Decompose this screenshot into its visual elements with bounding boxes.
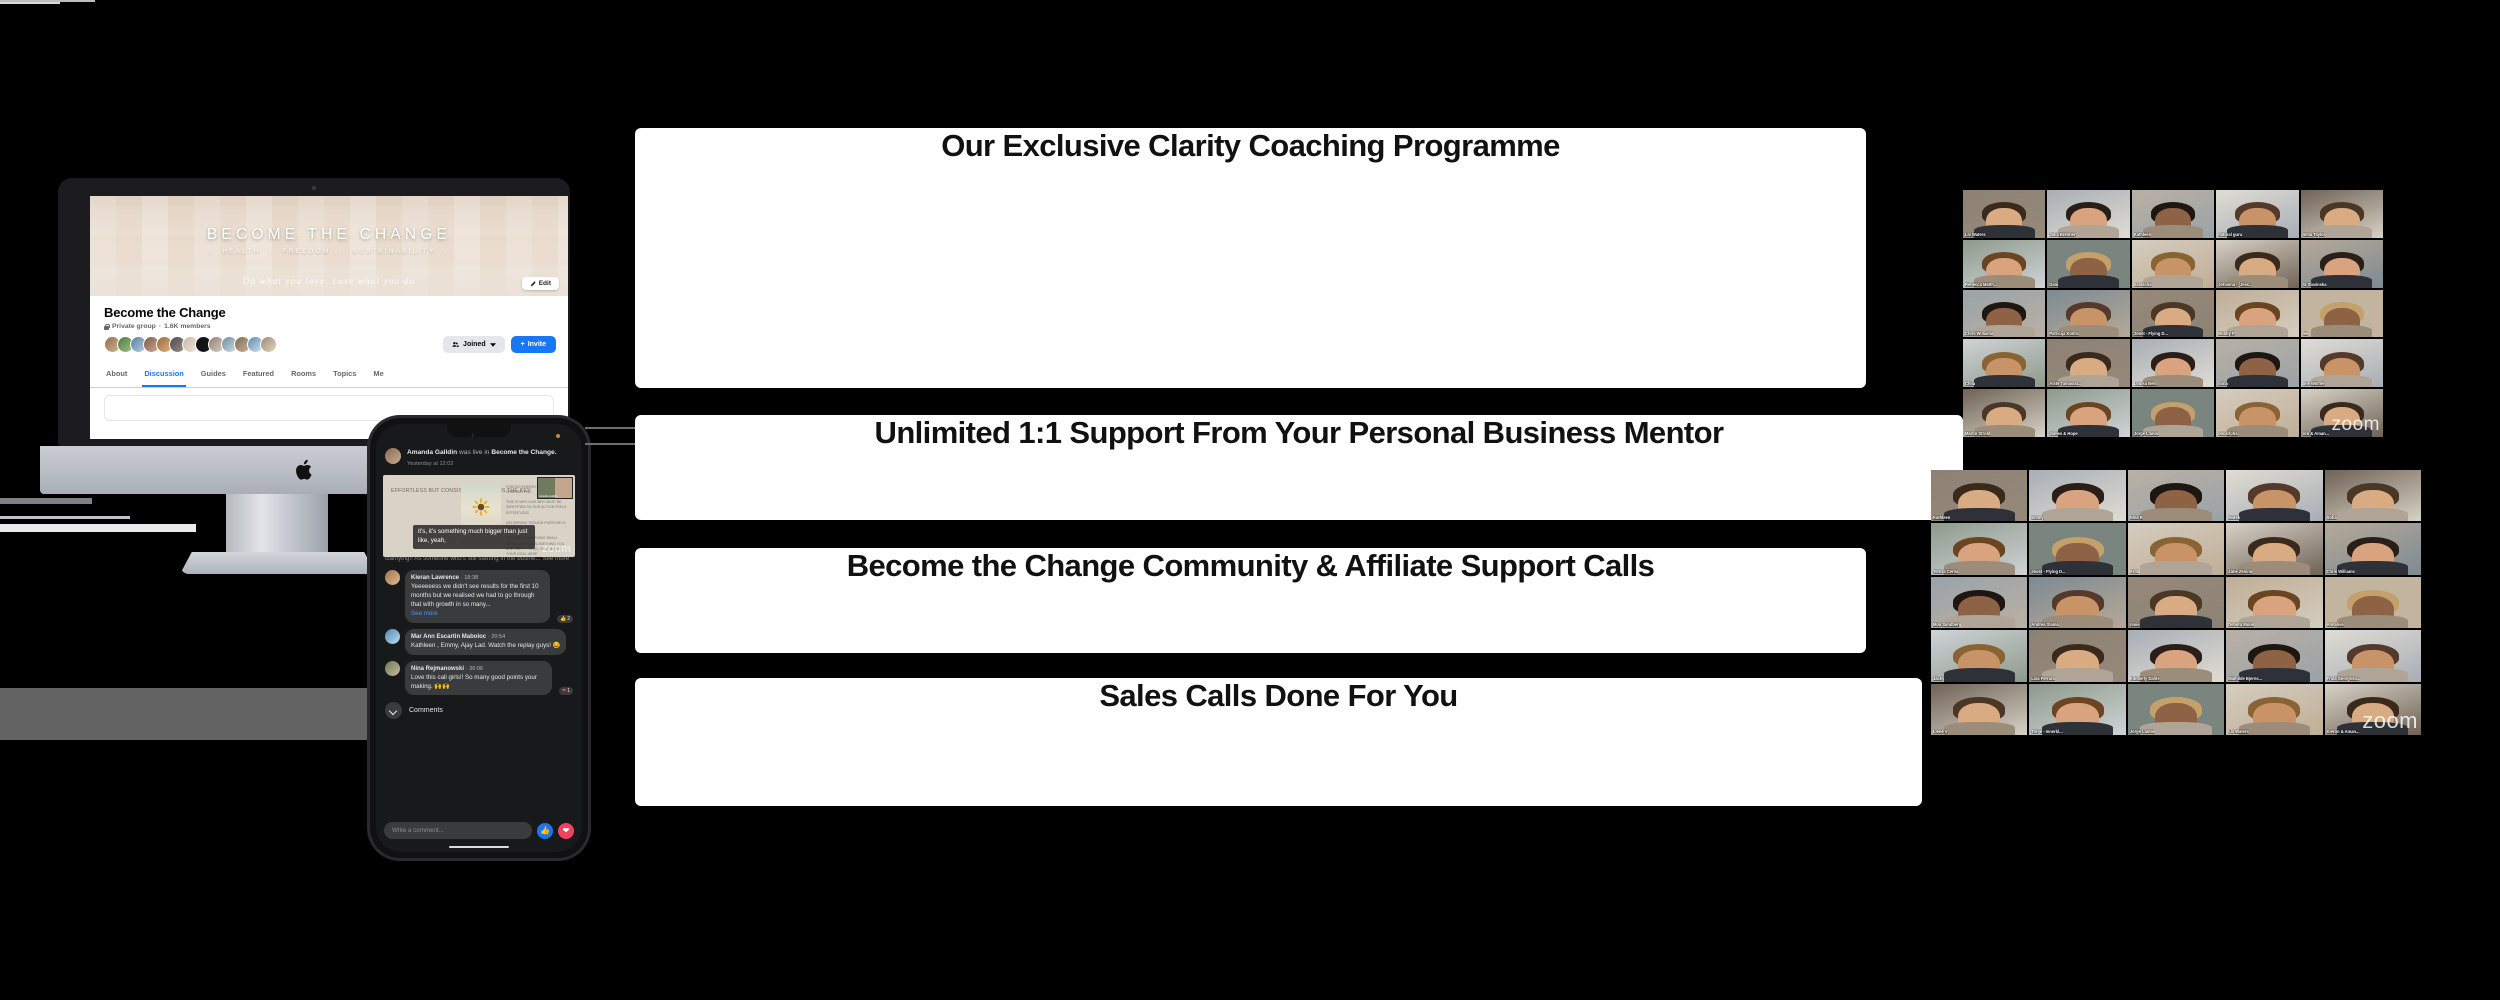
video-pip-tile: Amanda Galldin — [537, 477, 573, 499]
participant-body — [2227, 325, 2288, 337]
comments-label: Comments — [409, 707, 443, 714]
zoom-participant-tile[interactable]: Chris Williams — [1963, 290, 2045, 338]
zoom-participant-name: ra Slavinska — [2303, 282, 2327, 287]
zoom-participant-name: Dani — [2049, 282, 2058, 287]
zoom-participant-name: Joost - Flying D... — [2134, 331, 2168, 336]
group-action-buttons: Joined + Invite — [443, 336, 556, 353]
zoom-participant-name: mma Taylor — [2303, 232, 2326, 237]
zoom-participant-name: ilaria — [2218, 381, 2228, 386]
zoom-participant-tile[interactable]: Chris Williams — [2325, 523, 2421, 574]
zoom-participant-name: Moa Sandberg — [1933, 622, 1961, 627]
decor-gray-bar — [0, 688, 376, 740]
zoom-participant-tile[interactable]: Jacky — [1931, 630, 2027, 681]
group-cover-photo: BECOME THE CHANGE |HEALTH|FREEDOM|SUSTAI… — [90, 196, 568, 296]
zoom-participant-tile[interactable]: Rebecca Matth... — [1963, 240, 2045, 288]
zoom-participant-name: Tereza Cerna — [1933, 569, 1958, 574]
comment-time-value: 20:54 — [491, 634, 505, 640]
zoom-watermark: zoom — [542, 543, 571, 555]
zoom-participant-tile[interactable]: Martin Strobl — [1963, 389, 2045, 437]
participant-body — [2058, 275, 2119, 287]
tab-topics[interactable]: Topics — [331, 363, 358, 387]
invite-button[interactable]: + Invite — [511, 336, 556, 353]
zoom-participant-tile[interactable]: Mathilde Bjerns... — [2226, 630, 2322, 681]
comment-bubble: Kieran Lawrence · 18:38 Yeeeeeess we did… — [405, 570, 550, 623]
zoom-participant-name: Patricija Kodric — [2049, 331, 2079, 336]
zoom-participant-name: Jorge Llanos — [2130, 729, 2155, 734]
imac-camera-icon — [312, 186, 316, 190]
reaction-count-value: 2 — [567, 616, 570, 622]
participant-body — [2337, 615, 2408, 628]
zoom-participant-tile[interactable]: Kathleen — [1931, 470, 2027, 521]
zoom-participant-name: Jorge Llanos — [2134, 431, 2159, 436]
zoom-participant-tile[interactable]: Tonje - Innerbl... — [2029, 684, 2125, 735]
pencil-icon — [530, 281, 536, 287]
participant-body — [1974, 375, 2035, 387]
live-caption: it's, it's something much bigger than ju… — [413, 525, 535, 549]
post-author-name[interactable]: Amanda Galldin — [407, 449, 457, 456]
feature-card-title: Unlimited 1:1 Support From Your Personal… — [635, 415, 1963, 451]
sunflower-icon — [472, 498, 490, 516]
comment-text: Love this call girls!! So many good poin… — [411, 674, 546, 692]
zoom-participant-tile[interactable]: Johanna - [Jesc... — [2216, 240, 2298, 288]
zoom-participant-tile[interactable]: rosie — [2128, 577, 2224, 628]
zoom-participant-tile[interactable]: lee — [2301, 290, 2383, 338]
zoom-participant-name: Martin Strobl — [1965, 431, 1990, 436]
plus-icon: + — [521, 341, 525, 348]
comment-time: · 36:06 — [466, 666, 483, 672]
tab-about[interactable]: About — [104, 363, 129, 387]
decor-line-thin — [0, 516, 130, 519]
slide-right-line-2: THIS IS WHY OUR WHY MUST BE IDENTIFIED S… — [506, 500, 568, 516]
cover-pillar-sustainability: SUSTAINABILITY — [353, 248, 436, 255]
group-privacy-label: Private group — [112, 323, 156, 330]
zoom-participant-name: Chris Williams — [1965, 331, 1993, 336]
zoom-participant-name: Kimberly Dahle — [2130, 676, 2160, 681]
commenter-avatar[interactable] — [385, 570, 400, 585]
group-tabs: About Discussion Guides Featured Rooms T… — [90, 363, 568, 388]
cover-tagline: Do what you love, Love what you do — [90, 276, 568, 286]
participant-body — [2140, 508, 2211, 521]
joined-button[interactable]: Joined — [443, 336, 505, 353]
pip-participant-name: Amanda Galldin — [539, 495, 557, 498]
zoom-participant-name: Nina R — [2130, 515, 2143, 520]
zoom-participant-tile[interactable]: Joost - Flying D... — [2132, 290, 2214, 338]
comment-text: Kathleen , Emmy, Ajay Lad. Watch the rep… — [411, 642, 560, 651]
feature-card-title: Become the Change Community & Affiliate … — [635, 548, 1866, 584]
chevron-down-icon — [490, 343, 496, 347]
feature-card-community-calls[interactable]: Become the Change Community & Affiliate … — [635, 548, 1866, 653]
comment-see-more[interactable]: See more — [411, 610, 438, 617]
imac-screen: BECOME THE CHANGE |HEALTH|FREEDOM|SUSTAI… — [90, 196, 568, 439]
comment-item: Kieran Lawrence · 18:38 Yeeeeeess we did… — [385, 570, 573, 623]
zoom-participant-name: Chris Williams — [2327, 569, 2355, 574]
zoom-participant-tile[interactable]: Annalise — [2325, 577, 2421, 628]
post-target-group[interactable]: Become the Change. — [491, 449, 556, 456]
participant-body — [2143, 275, 2204, 287]
love-button[interactable]: ❤ — [558, 823, 574, 839]
feature-card-clarity-coaching[interactable]: Our Exclusive Clarity Coaching Programme — [635, 128, 1866, 388]
feature-card-unlimited-support[interactable]: Unlimited 1:1 Support From Your Personal… — [635, 415, 1963, 520]
participant-body — [1944, 508, 2015, 521]
zoom-participant-name: lee — [2303, 331, 2309, 336]
participant-body — [2337, 508, 2408, 521]
comment-composer: Write a comment... 👍 ❤ — [384, 822, 574, 839]
post-author-avatar[interactable] — [385, 448, 401, 464]
decor-line-light — [0, 524, 196, 532]
comment-reaction-count[interactable]: 👍 2 — [557, 615, 573, 623]
edit-cover-button[interactable]: Edit — [522, 277, 559, 290]
participant-body — [1944, 668, 2015, 681]
zoom-participant-tile[interactable]: natascha — [2132, 240, 2214, 288]
zoom-participant-name: Chila — [1965, 381, 1975, 386]
comment-item: Mar Ann Escartin Maboloc · 20:54 Kathlee… — [385, 629, 573, 655]
comment-reaction-count[interactable]: ❤ 1 — [559, 687, 573, 695]
group-privacy-row: Private group · 1.6K members — [104, 323, 554, 330]
feature-card-title: Sales Calls Done For You — [635, 678, 1922, 714]
zoom-participant-tile[interactable]: Aiste Tamasiat... — [2047, 339, 2129, 387]
zoom-participant-name: Kathleen — [1933, 515, 1950, 520]
promo-graphic-root: BECOME THE CHANGE |HEALTH|FREEDOM|SUSTAI… — [0, 0, 2500, 1000]
zoom-participant-tile[interactable]: ron & Aman... — [2301, 389, 2383, 437]
zoom-participant-tile[interactable]: Debora Moos — [2226, 577, 2322, 628]
zoom-participant-name: Aiste Tamasiat... — [2049, 381, 2081, 386]
zoom-participant-tile[interactable]: Liv Waters — [2226, 684, 2322, 735]
invite-label: Invite — [528, 341, 546, 348]
zoom-participant-name: Annalise — [2327, 622, 2344, 627]
apple-logo-icon — [295, 458, 315, 482]
zoom-participant-tile[interactable]: Nina R — [2128, 470, 2224, 521]
zoom-participant-name: Louisa Belli — [2134, 381, 2157, 386]
zoom-participant-tile[interactable]: Emmy — [2029, 470, 2125, 521]
chevron-down-icon[interactable] — [385, 702, 402, 719]
tab-featured[interactable]: Featured — [241, 363, 276, 387]
zoom-participant-name: Julia Brenner — [2049, 232, 2075, 237]
participant-body — [2143, 225, 2204, 237]
feature-card-title: Our Exclusive Clarity Coaching Programme — [635, 128, 1866, 164]
zoom-participant-name: Andrea Slama — [2031, 622, 2058, 627]
tab-rooms[interactable]: Rooms — [289, 363, 318, 387]
zoom-participant-name: Zane Zenina — [2228, 569, 2252, 574]
zoom-participant-tile[interactable]: Kathleen — [2132, 190, 2214, 238]
participant-body — [2227, 375, 2288, 387]
commenter-avatar[interactable] — [385, 661, 400, 676]
zoom-participant-name: natural guru — [2218, 232, 2242, 237]
post-byline: Amanda Galldin was live in Become the Ch… — [407, 448, 557, 468]
zoom-participant-tile[interactable]: natural guru — [2216, 190, 2298, 238]
zoom-participant-name: Emmy — [2031, 515, 2043, 520]
post-action-text: was live in — [459, 449, 489, 456]
comment-time: · 18:38 — [461, 575, 478, 581]
participant-body — [2239, 508, 2310, 521]
tab-me[interactable]: Me — [371, 363, 385, 387]
zoom-participant-name: ron & Aman... — [2303, 431, 2329, 436]
heart-icon: ❤ — [562, 688, 566, 694]
zoom-participant-tile[interactable]: Arita — [2128, 523, 2224, 574]
zoom-participant-tile[interactable]: Lisa Ferrara — [2029, 630, 2125, 681]
zoom-participant-name: Tonje - Innerbl... — [2031, 729, 2062, 734]
zoom-participant-name: Jacky — [1933, 676, 1944, 681]
zoom-participant-tile[interactable]: Joost - Flying D... — [2029, 523, 2125, 574]
zoom-participant-name: Rebecca Matth... — [1965, 282, 1997, 287]
commenter-avatar[interactable] — [385, 629, 400, 644]
cover-pillar-freedom: FREEDOM — [283, 248, 331, 255]
joined-label: Joined — [463, 341, 486, 348]
tab-discussion[interactable]: Discussion — [142, 363, 185, 387]
zoom-participant-name: Liv Waters — [1965, 232, 1986, 237]
zoom-participant-tile[interactable]: Moa Sandberg — [1931, 577, 2027, 628]
zoom-participant-name: Kieron & Aman... — [2327, 729, 2360, 734]
participant-body — [2140, 561, 2211, 574]
zoom-participant-name: tine Wolfler — [2303, 381, 2325, 386]
zoom-participant-tile[interactable]: mma Taylor — [2301, 190, 2383, 238]
comment-text: Yeeeeeess we didn't see results for the … — [411, 583, 544, 610]
zoom-participant-tile[interactable]: Liene V — [1931, 684, 2027, 735]
music-icon: ♪ — [471, 433, 476, 438]
comment-bubble: Mar Ann Escartin Maboloc · 20:54 Kathlee… — [405, 629, 566, 655]
zoom-participant-tile[interactable]: Zane Zenina — [2226, 523, 2322, 574]
zoom-participant-name: Liene V — [1933, 729, 1948, 734]
zoom-participant-name: Liv Waters — [2228, 729, 2249, 734]
group-member-count: 1.6K members — [164, 323, 210, 330]
zoom-participant-name: Johanna - [Jesc... — [2218, 282, 2252, 287]
participant-body — [1944, 722, 2015, 735]
zoom-participant-name: Mathilde Bjerns... — [2228, 676, 2262, 681]
connector-line-right-bottom — [0, 2, 60, 4]
zoom-participant-tile[interactable]: James & Hope — [2047, 389, 2129, 437]
zoom-participant-tile[interactable]: Julia Brenner — [2047, 190, 2129, 238]
comment-time-value: 36:06 — [469, 666, 483, 672]
zoom-participant-tile[interactable]: Liv Waters — [1963, 190, 2045, 238]
imac-stand-foot — [180, 552, 376, 574]
cover-pillar-health: HEALTH — [222, 248, 260, 255]
zoom-participant-name: rosie — [2130, 622, 2140, 627]
zoom-participant-name: natascha — [2134, 282, 2152, 287]
zoom-participant-tile[interactable]: Chila — [1963, 339, 2045, 387]
comment-time: · 20:54 — [488, 634, 505, 640]
zoom-participant-tile[interactable]: oscarlpha — [2216, 389, 2298, 437]
tab-guides[interactable]: Guides — [199, 363, 228, 387]
zoom-participant-tile[interactable]: ilaria — [2216, 339, 2298, 387]
zoom-participant-tile[interactable]: Sofia — [2325, 470, 2421, 521]
zoom-participant-tile[interactable]: Kimberly Dahle — [2128, 630, 2224, 681]
comment-input[interactable]: Write a comment... — [384, 822, 532, 839]
zoom-participant-tile[interactable]: tine Wolfler — [2301, 339, 2383, 387]
zoom-participant-name: Sofia — [2327, 515, 2337, 520]
reaction-count-value: 1 — [567, 688, 570, 694]
zoom-participant-tile[interactable]: Dani — [2047, 240, 2129, 288]
zoom-participant-tile[interactable]: Jorge Llanos — [2132, 389, 2214, 437]
lock-icon — [104, 324, 109, 330]
zoom-participant-name: Marek — [2228, 515, 2240, 520]
zoom-participant-name: Frida Georgsso... — [2327, 676, 2361, 681]
zoom-participant-name: Debora Moos — [2228, 622, 2254, 627]
cover-title: BECOME THE CHANGE — [90, 226, 568, 244]
comments-toggle-row[interactable]: Comments — [385, 702, 573, 719]
zoom-participant-tile[interactable]: ra Slavinska — [2301, 240, 2383, 288]
participant-body — [2042, 508, 2113, 521]
comment-author[interactable]: Kieran Lawrence — [411, 575, 459, 581]
iphone-notch — [447, 424, 511, 437]
zoom-participant-name: Lisa Ferrara — [2031, 676, 2054, 681]
feature-card-sales-calls[interactable]: Sales Calls Done For You — [635, 678, 1922, 806]
cover-pillars: |HEALTH|FREEDOM|SUSTAINABILITY| — [90, 248, 568, 255]
zoom-participant-tile[interactable]: Marek — [2226, 470, 2322, 521]
avatar — [260, 336, 277, 353]
zoom-participant-name: Kathleen — [2134, 232, 2151, 237]
zoom-participant-tile[interactable]: Kieron & Aman... — [2325, 684, 2421, 735]
iphone-screen: ♪ Amanda Galldin was live in Become the … — [376, 424, 582, 852]
zoom-participant-tile[interactable]: Andrea Slama — [2029, 577, 2125, 628]
zoom-participant-name: Joost - Flying D... — [2031, 569, 2065, 574]
zoom-call-grid-top[interactable]: Liv WatersJulia BrennerKathleennatural g… — [1963, 190, 2383, 437]
comment-bubble: Nina Rejmanowski · 36:06 Love this call … — [405, 661, 552, 696]
zoom-participant-name: James & Hope — [2049, 431, 2077, 436]
participant-body — [2239, 722, 2310, 735]
comment-item: Nina Rejmanowski · 36:06 Love this call … — [385, 661, 573, 696]
zoom-participant-tile[interactable]: Bobby P — [2216, 290, 2298, 338]
iphone-mockup: ♪ Amanda Galldin was live in Become the … — [370, 418, 588, 858]
zoom-participant-name: oscarlpha — [2218, 431, 2237, 436]
zoom-participant-tile[interactable]: Louisa Belli — [2132, 339, 2214, 387]
comment-author[interactable]: Mar Ann Escartin Maboloc — [411, 634, 486, 640]
decor-gray-tick — [0, 498, 92, 504]
zoom-participant-tile[interactable]: Patricija Kodric — [2047, 290, 2129, 338]
post-timestamp: Yesterday at 12:02 — [407, 460, 557, 468]
participant-body — [2311, 325, 2372, 337]
zoom-participant-tile[interactable]: Frida Georgsso... — [2325, 630, 2421, 681]
people-icon — [452, 341, 459, 348]
home-indicator — [449, 846, 509, 849]
comment-time-value: 18:38 — [464, 575, 478, 581]
group-name: Become the Change — [104, 305, 554, 320]
participant-body — [2140, 615, 2211, 628]
recording-indicator-icon — [556, 434, 560, 438]
post-media-slide[interactable]: EFFORTLESS BUT CONSISTENT ACTION IS THE … — [383, 475, 575, 557]
zoom-call-grid-bottom[interactable]: KathleenEmmyNina RMarekSofiaTereza Cerna… — [1931, 470, 2421, 735]
zoom-participant-name: Arita — [2130, 569, 2139, 574]
thumbs-up-icon: 👍 — [560, 616, 566, 622]
comment-author[interactable]: Nina Rejmanowski — [411, 666, 464, 672]
edit-cover-label: Edit — [539, 280, 551, 287]
like-button[interactable]: 👍 — [537, 823, 553, 839]
zoom-participant-tile[interactable]: Tereza Cerna — [1931, 523, 2027, 574]
imac-stand-neck — [226, 494, 328, 556]
zoom-participant-tile[interactable]: Jorge Llanos — [2128, 684, 2224, 735]
imac-display-body: BECOME THE CHANGE |HEALTH|FREEDOM|SUSTAI… — [58, 178, 570, 446]
zoom-participant-name: Bobby P — [2218, 331, 2235, 336]
